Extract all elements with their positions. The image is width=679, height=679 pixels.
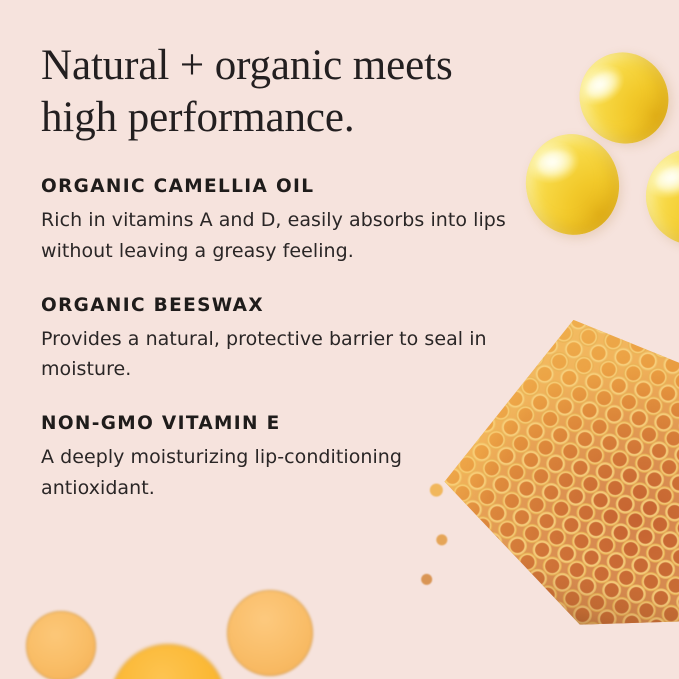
benefit-item-beeswax: ORGANIC BEESWAX Provides a natural, prot… [41,295,511,386]
benefit-label: ORGANIC BEESWAX [41,295,511,316]
page-headline: Natural + organic meets high performance… [41,40,511,144]
text-content-layer: Natural + organic meets high performance… [0,0,679,679]
benefits-list: ORGANIC CAMELLIA OIL Rich in vitamins A … [41,176,511,504]
ingredient-benefits-graphic: Natural + organic meets high performance… [0,0,679,679]
headline-line-2: high performance. [41,94,355,141]
benefit-label: NON-GMO VITAMIN E [41,413,511,434]
headline-line-1: Natural + organic meets [41,42,453,89]
benefit-description: Rich in vitamins A and D, easily absorbs… [41,205,511,267]
benefit-label: ORGANIC CAMELLIA OIL [41,176,511,197]
benefit-description: Provides a natural, protective barrier t… [41,324,511,386]
benefit-item-vitamin-e: NON-GMO VITAMIN E A deeply moisturizing … [41,413,511,504]
benefit-description: A deeply moisturizing lip-conditioning a… [41,442,511,504]
benefit-item-camellia-oil: ORGANIC CAMELLIA OIL Rich in vitamins A … [41,176,511,267]
